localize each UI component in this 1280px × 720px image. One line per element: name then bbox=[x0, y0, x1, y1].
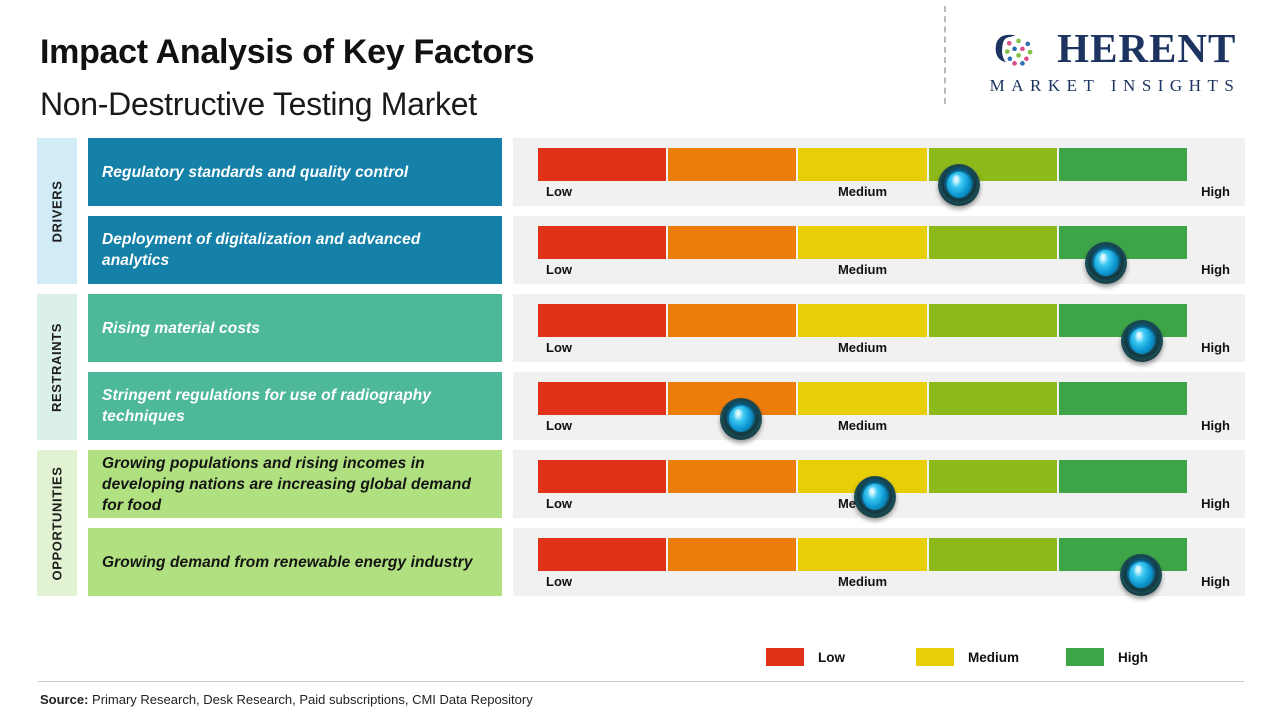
scale-tick-medium: Medium bbox=[838, 184, 887, 199]
factor-label: Stringent regulations for use of radiogr… bbox=[102, 385, 488, 427]
factor-label: Rising material costs bbox=[102, 318, 260, 339]
scale-segment-4 bbox=[929, 304, 1057, 337]
factor-label: Regulatory standards and quality control bbox=[102, 162, 408, 183]
factor-label: Growing demand from renewable energy ind… bbox=[102, 552, 473, 573]
category-label-drivers: DRIVERS bbox=[37, 138, 77, 284]
legend-swatch-low bbox=[766, 648, 804, 666]
scale-tick-labels: LowMediumHigh bbox=[538, 574, 1187, 594]
scale-tick-labels: LowMediumHigh bbox=[538, 340, 1187, 360]
scale-segment-3 bbox=[798, 304, 926, 337]
legend-item-low: Low bbox=[766, 648, 916, 666]
factor-box: Growing demand from renewable energy ind… bbox=[88, 528, 502, 596]
scale-tick-low: Low bbox=[546, 418, 572, 433]
impact-gauge-row: LowMediumHigh bbox=[513, 450, 1245, 518]
scale-tick-high: High bbox=[1201, 184, 1230, 199]
gauge-marker-icon[interactable] bbox=[1121, 320, 1163, 362]
gauge-marker-icon[interactable] bbox=[854, 476, 896, 518]
legend-label: Medium bbox=[968, 650, 1019, 665]
legend-item-high: High bbox=[1066, 648, 1216, 666]
factor-box: Growing populations and rising incomes i… bbox=[88, 450, 502, 518]
scale-tick-medium: Medium bbox=[838, 340, 887, 355]
factor-label: Growing populations and rising incomes i… bbox=[102, 453, 488, 516]
category-label-opportunities: OPPORTUNITIES bbox=[37, 450, 77, 596]
scale-tick-low: Low bbox=[546, 184, 572, 199]
header: Impact Analysis of Key Factors Non-Destr… bbox=[0, 0, 1280, 130]
impact-gauge-row: LowMediumHigh bbox=[513, 528, 1245, 596]
impact-gauge-row: LowMediumHigh bbox=[513, 294, 1245, 362]
impact-scale-bar bbox=[538, 538, 1187, 571]
page-subtitle: Non-Destructive Testing Market bbox=[40, 86, 477, 123]
header-divider bbox=[944, 6, 946, 104]
scale-tick-medium: Medium bbox=[838, 574, 887, 589]
footer-divider bbox=[38, 681, 1244, 682]
globe-dot-pattern-icon bbox=[1002, 35, 1035, 68]
scale-segment-1 bbox=[538, 538, 666, 571]
legend-label: High bbox=[1118, 650, 1148, 665]
scale-segment-4 bbox=[929, 460, 1057, 493]
scale-tick-high: High bbox=[1201, 340, 1230, 355]
impact-matrix: DRIVERSRESTRAINTSOPPORTUNITIESRegulatory… bbox=[0, 138, 1280, 616]
scale-segment-2 bbox=[668, 460, 796, 493]
scale-segment-4 bbox=[929, 538, 1057, 571]
logo-tagline: MARKET INSIGHTS bbox=[960, 76, 1270, 96]
gauge-marker-icon[interactable] bbox=[1120, 554, 1162, 596]
gauge-marker-icon[interactable] bbox=[1085, 242, 1127, 284]
category-label-text: OPPORTUNITIES bbox=[50, 466, 65, 580]
scale-segment-3 bbox=[798, 226, 926, 259]
factor-label: Deployment of digitalization and advance… bbox=[102, 229, 488, 271]
scale-segment-4 bbox=[929, 382, 1057, 415]
factor-box: Rising material costs bbox=[88, 294, 502, 362]
impact-scale-bar bbox=[538, 382, 1187, 415]
scale-segment-5 bbox=[1059, 148, 1187, 181]
legend-label: Low bbox=[818, 650, 845, 665]
impact-scale-bar bbox=[538, 304, 1187, 337]
scale-tick-low: Low bbox=[546, 496, 572, 511]
scale-segment-1 bbox=[538, 148, 666, 181]
scale-segment-1 bbox=[538, 460, 666, 493]
legend-swatch-medium bbox=[916, 648, 954, 666]
scale-segment-3 bbox=[798, 538, 926, 571]
scale-segment-2 bbox=[668, 304, 796, 337]
scale-segment-3 bbox=[798, 148, 926, 181]
impact-gauge-row: LowMediumHigh bbox=[513, 138, 1245, 206]
category-label-text: DRIVERS bbox=[50, 180, 65, 242]
source-label: Source: bbox=[40, 692, 88, 707]
legend-item-medium: Medium bbox=[916, 648, 1066, 666]
factor-box: Stringent regulations for use of radiogr… bbox=[88, 372, 502, 440]
scale-tick-high: High bbox=[1201, 418, 1230, 433]
scale-tick-high: High bbox=[1201, 496, 1230, 511]
scale-segment-2 bbox=[668, 226, 796, 259]
factor-box: Regulatory standards and quality control bbox=[88, 138, 502, 206]
impact-scale-bar bbox=[538, 148, 1187, 181]
scale-tick-high: High bbox=[1201, 262, 1230, 277]
legend: LowMediumHigh bbox=[766, 645, 1216, 669]
scale-tick-high: High bbox=[1201, 574, 1230, 589]
scale-segment-2 bbox=[668, 148, 796, 181]
legend-swatch-high bbox=[1066, 648, 1104, 666]
brand-logo: COHERENT MARKET INSIGHTS bbox=[960, 24, 1270, 104]
scale-segment-1 bbox=[538, 382, 666, 415]
impact-gauge-row: LowMediumHigh bbox=[513, 216, 1245, 284]
factor-box: Deployment of digitalization and advance… bbox=[88, 216, 502, 284]
scale-segment-3 bbox=[798, 382, 926, 415]
scale-segment-1 bbox=[538, 226, 666, 259]
page-title: Impact Analysis of Key Factors bbox=[40, 33, 534, 72]
logo-word-after: HERENT bbox=[1057, 25, 1236, 71]
scale-segment-2 bbox=[668, 538, 796, 571]
gauge-marker-icon[interactable] bbox=[938, 164, 980, 206]
scale-tick-labels: LowMediumHigh bbox=[538, 418, 1187, 438]
scale-tick-low: Low bbox=[546, 340, 572, 355]
scale-tick-labels: LowMediumHigh bbox=[538, 184, 1187, 204]
gauge-marker-icon[interactable] bbox=[720, 398, 762, 440]
scale-tick-medium: Medium bbox=[838, 418, 887, 433]
impact-gauge-row: LowMediumHigh bbox=[513, 372, 1245, 440]
category-label-restraints: RESTRAINTS bbox=[37, 294, 77, 440]
scale-tick-low: Low bbox=[546, 262, 572, 277]
scale-segment-4 bbox=[929, 226, 1057, 259]
source-note: Source: Primary Research, Desk Research,… bbox=[40, 692, 533, 707]
source-text: Primary Research, Desk Research, Paid su… bbox=[88, 692, 532, 707]
category-label-text: RESTRAINTS bbox=[50, 322, 65, 411]
scale-segment-5 bbox=[1059, 382, 1187, 415]
scale-segment-1 bbox=[538, 304, 666, 337]
scale-tick-medium: Medium bbox=[838, 262, 887, 277]
scale-segment-5 bbox=[1059, 460, 1187, 493]
scale-tick-low: Low bbox=[546, 574, 572, 589]
